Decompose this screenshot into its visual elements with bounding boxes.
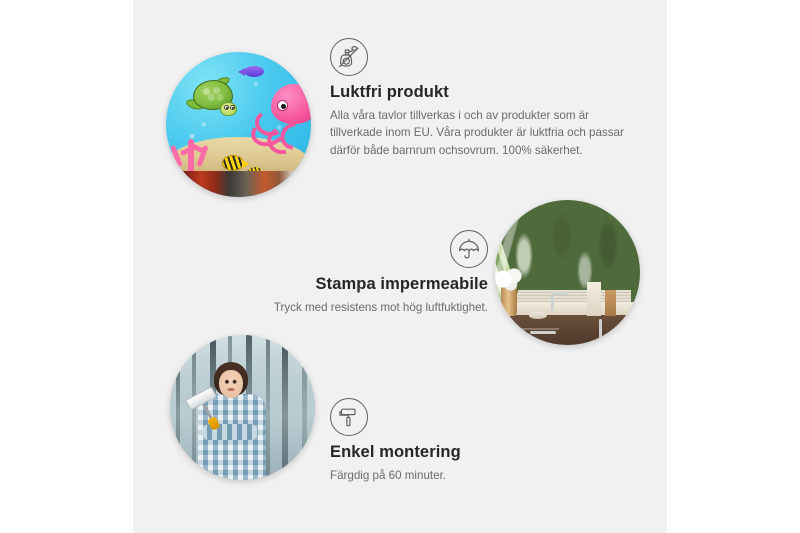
content-panel: Luktfri produkt Alla våra tavlor tillver…	[133, 0, 667, 533]
feature-title: Enkel montering	[330, 443, 590, 463]
soap-dish	[529, 312, 547, 319]
octopus-illustration	[251, 84, 311, 158]
feature-title: Luktfri produkt	[330, 83, 630, 103]
feature-description: Tryck med resistens mot hög luftfuktighe…	[218, 299, 488, 317]
forest-photo	[170, 335, 315, 480]
bathroom-photo	[495, 200, 640, 345]
wooden-container	[605, 290, 616, 316]
soap-bottle	[587, 282, 601, 316]
wooden-vanity	[507, 315, 640, 345]
feature-waterproof-print: Stampa impermeabile Tryck med resistens …	[218, 230, 488, 316]
woman-figure	[194, 362, 270, 480]
feature-description: Alla våra tavlor tillverkas i och av pro…	[330, 107, 630, 160]
fish-yellow	[222, 155, 244, 171]
cabinet-handle	[599, 319, 602, 345]
image-bathroom-tropical-wallpaper	[495, 200, 640, 345]
screenshot-root: Luktfri produkt Alla våra tavlor tillver…	[0, 0, 800, 533]
room-photo-strip	[166, 171, 311, 197]
image-underwater-scene	[166, 52, 311, 197]
underwater-illustration	[166, 52, 311, 197]
drawer-line	[510, 328, 559, 330]
feature-odour-free: Luktfri produkt Alla våra tavlor tillver…	[330, 38, 630, 160]
paint-roller-icon	[330, 398, 368, 436]
drawer-handle	[530, 331, 556, 334]
feature-easy-mounting: Enkel montering Färgdig på 60 minuter.	[330, 398, 590, 484]
faucet	[551, 292, 554, 310]
coral-illustration	[170, 133, 214, 173]
feature-title: Stampa impermeabile	[218, 275, 488, 295]
no-fragrance-spray-bottle-icon	[330, 38, 368, 76]
feature-description: Färgdig på 60 minuter.	[330, 467, 590, 485]
turtle-illustration	[184, 78, 242, 118]
fish-blue	[244, 66, 264, 77]
umbrella-icon	[450, 230, 488, 268]
face	[219, 370, 243, 398]
image-woman-paint-roller-forest	[170, 335, 315, 480]
white-flowers	[495, 266, 527, 292]
